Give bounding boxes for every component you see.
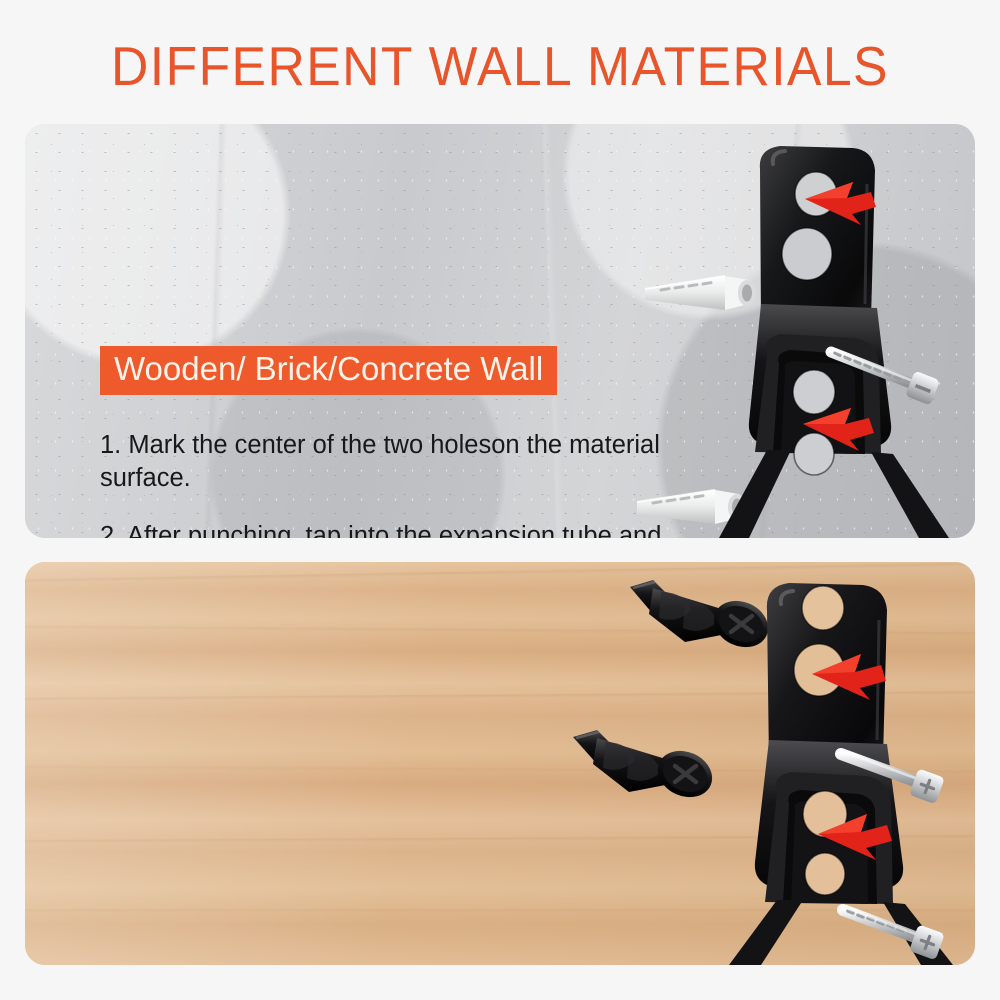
badge-wooden-brick-concrete-wall: Wooden/ Brick/Concrete Wall [100,346,557,395]
concrete-panel-text: Wooden/ Brick/Concrete Wall 1. Mark the … [100,346,700,538]
panel-wooden-brick-concrete-wall: Wooden/ Brick/Concrete Wall 1. Mark the … [25,124,975,538]
concrete-step-1: 1. Mark the center of the two holeson th… [100,429,700,496]
instruction-infographic: DIFFERENT WALL MATERIALS [0,0,1000,1000]
page-title: DIFFERENT WALL MATERIALS [30,34,970,98]
wood-sheen-overlay [25,562,975,965]
concrete-step-2: 2. After punching, tap into the expansio… [100,520,700,538]
wood-board-texture [25,562,975,965]
panel-plaster-wall: Plaster Wall 1. Mark the center of the t… [25,562,975,965]
